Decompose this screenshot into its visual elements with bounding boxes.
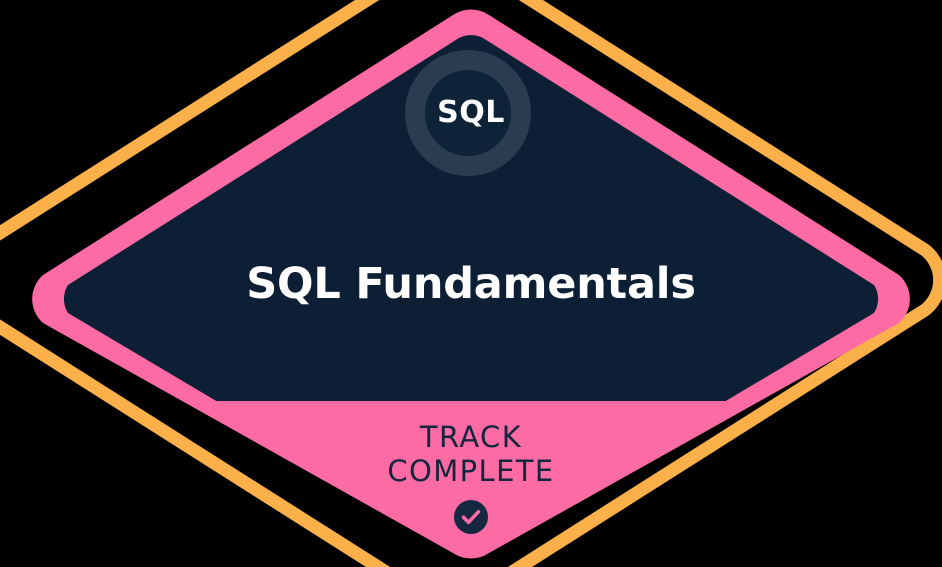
emblem-center [425,70,511,156]
badge-graphic [0,0,942,567]
badge-stage: SQL SQL Fundamentals TRACK COMPLETE [0,0,942,567]
